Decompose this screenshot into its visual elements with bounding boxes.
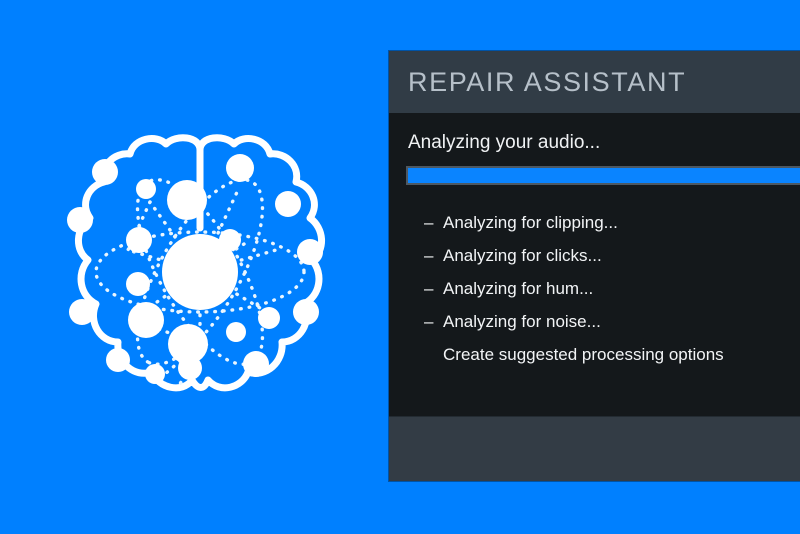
analysis-step-label: Create suggested processing options xyxy=(443,345,724,364)
dialog-title: REPAIR ASSISTANT xyxy=(408,67,686,98)
repair-assistant-dialog: REPAIR ASSISTANT Analyzing your audio...… xyxy=(389,51,800,481)
analysis-step-label: Analyzing for noise... xyxy=(443,312,601,331)
step-dash-marker: – xyxy=(424,272,433,305)
analysis-step-item: –Analyzing for hum... xyxy=(424,272,800,305)
analysis-progress-fill xyxy=(408,168,800,183)
analysis-step-list: –Analyzing for clipping...–Analyzing for… xyxy=(389,206,800,371)
analysis-step-label: Analyzing for clicks... xyxy=(443,246,602,265)
analysis-step-item: –Analyzing for noise... xyxy=(424,305,800,338)
dialog-footer xyxy=(389,416,800,481)
step-dash-marker: – xyxy=(424,206,433,239)
ai-brain-network-icon xyxy=(58,132,342,416)
analysis-step-label: Analyzing for clipping... xyxy=(443,213,618,232)
analysis-step-item: –Create suggested processing options xyxy=(424,338,800,371)
analysis-step-item: –Analyzing for clipping... xyxy=(424,206,800,239)
analysis-step-item: –Analyzing for clicks... xyxy=(424,239,800,272)
dialog-titlebar: REPAIR ASSISTANT xyxy=(389,51,800,113)
step-dash-marker: – xyxy=(424,239,433,272)
analysis-step-label: Analyzing for hum... xyxy=(443,279,593,298)
dialog-body: Analyzing your audio... –Analyzing for c… xyxy=(389,113,800,416)
analysis-progress-bar xyxy=(406,166,800,185)
step-dash-marker: – xyxy=(424,305,433,338)
status-heading: Analyzing your audio... xyxy=(389,132,800,154)
